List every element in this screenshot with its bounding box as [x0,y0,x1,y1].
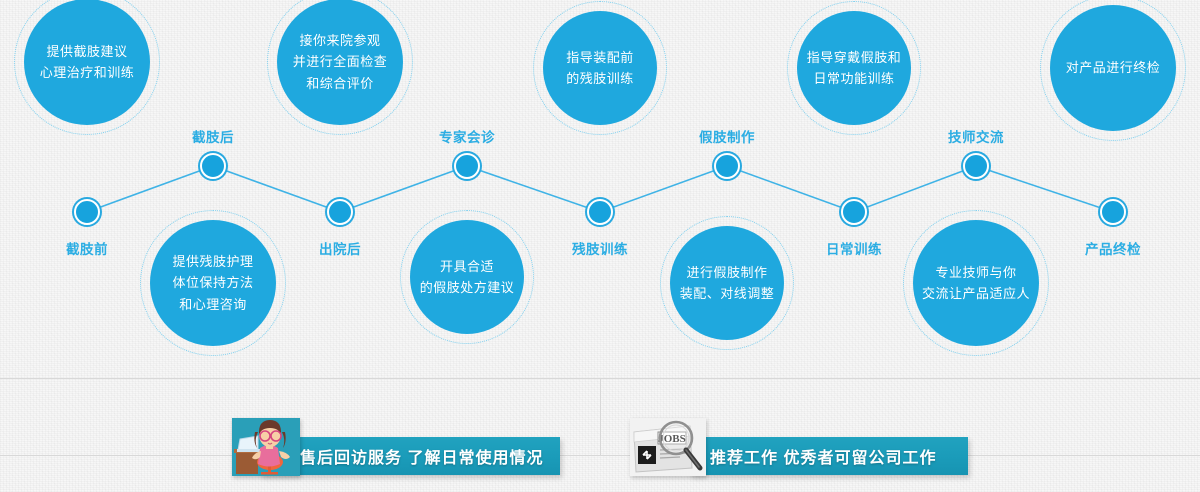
bubble-technician-line-1: 交流让产品适应人 [922,283,1030,304]
timeline-node-label-3: 专家会诊 [439,126,495,146]
timeline-node-label-0: 截肢前 [66,238,108,258]
bubble-stump-care-line-0: 提供残肢护理 [172,251,253,272]
bubble-stump-care-line-2: 和心理咨询 [179,294,247,315]
timeline-node-4[interactable] [587,199,613,225]
timeline-node-label-1: 截肢后 [192,126,234,146]
bubble-prescription[interactable]: 开具合适的假肢处方建议 [410,220,524,334]
bubble-post-amputation[interactable]: 接你来院参观并进行全面检查和综合评价 [277,0,403,125]
bubble-final-check[interactable]: 对产品进行终检 [1050,5,1176,131]
bubble-pre-amputation-line-0: 提供截肢建议 [46,41,127,62]
banner-aftersales-label: 售后回访服务 了解日常使用情况 [300,444,543,468]
bubble-post-amputation-line-1: 并进行全面检查 [293,51,388,72]
bubble-pre-amputation-line-1: 心理治疗和训练 [40,62,135,83]
divider-vertical [600,378,601,455]
divider-bottom [0,455,1200,456]
timeline-node-label-8: 产品终检 [1085,238,1141,258]
timeline-node-label-7: 技师交流 [948,126,1004,146]
bubble-technician[interactable]: 专业技师与你交流让产品适应人 [913,220,1039,346]
bubble-wear-guide[interactable]: 指导穿戴假肢和日常功能训练 [797,11,911,125]
bubble-stump-care-line-1: 体位保持方法 [172,272,253,293]
banner-jobs[interactable]: 推荐工作 优秀者可留公司工作 [690,437,968,475]
bubble-manufacture-line-1: 装配、对线调整 [680,283,775,304]
timeline-node-7[interactable] [963,153,989,179]
timeline-node-6[interactable] [841,199,867,225]
bubble-pre-fitting-line-0: 指导装配前 [566,47,634,68]
bubble-prescription-line-1: 的假肢处方建议 [420,277,515,298]
timeline-node-3[interactable] [454,153,480,179]
woman-at-desk-icon [232,418,300,476]
bubble-pre-fitting[interactable]: 指导装配前的残肢训练 [543,11,657,125]
bubble-prescription-line-0: 开具合适 [440,256,494,277]
bubble-technician-line-0: 专业技师与你 [935,262,1016,283]
timeline-node-label-2: 出院后 [319,238,361,258]
bubble-manufacture[interactable]: 进行假肢制作装配、对线调整 [670,226,784,340]
jobs-magnifier-icon: JOBS [630,418,706,476]
timeline-node-label-6: 日常训练 [826,238,882,258]
bubble-final-check-line-0: 对产品进行终检 [1066,57,1161,78]
process-flow-diagram: 提供截肢建议心理治疗和训练接你来院参观并进行全面检查和综合评价指导装配前的残肢训… [0,0,1200,492]
bubble-wear-guide-line-1: 日常功能训练 [813,68,894,89]
bubble-post-amputation-line-0: 接你来院参观 [299,30,380,51]
timeline-node-1[interactable] [200,153,226,179]
bubble-wear-guide-line-0: 指导穿戴假肢和 [807,47,902,68]
bubble-stump-care[interactable]: 提供残肢护理体位保持方法和心理咨询 [150,220,276,346]
timeline-node-5[interactable] [714,153,740,179]
timeline-node-0[interactable] [74,199,100,225]
banner-jobs-label: 推荐工作 优秀者可留公司工作 [710,444,936,468]
bubble-pre-amputation[interactable]: 提供截肢建议心理治疗和训练 [24,0,150,125]
bubble-manufacture-line-0: 进行假肢制作 [686,262,767,283]
timeline-node-label-5: 假肢制作 [699,126,755,146]
bubble-post-amputation-line-2: 和综合评价 [306,73,374,94]
bubble-pre-fitting-line-1: 的残肢训练 [566,68,634,89]
timeline-node-8[interactable] [1100,199,1126,225]
timeline-node-label-4: 残肢训练 [572,238,628,258]
banner-aftersales[interactable]: 售后回访服务 了解日常使用情况 [260,437,560,475]
timeline-node-2[interactable] [327,199,353,225]
